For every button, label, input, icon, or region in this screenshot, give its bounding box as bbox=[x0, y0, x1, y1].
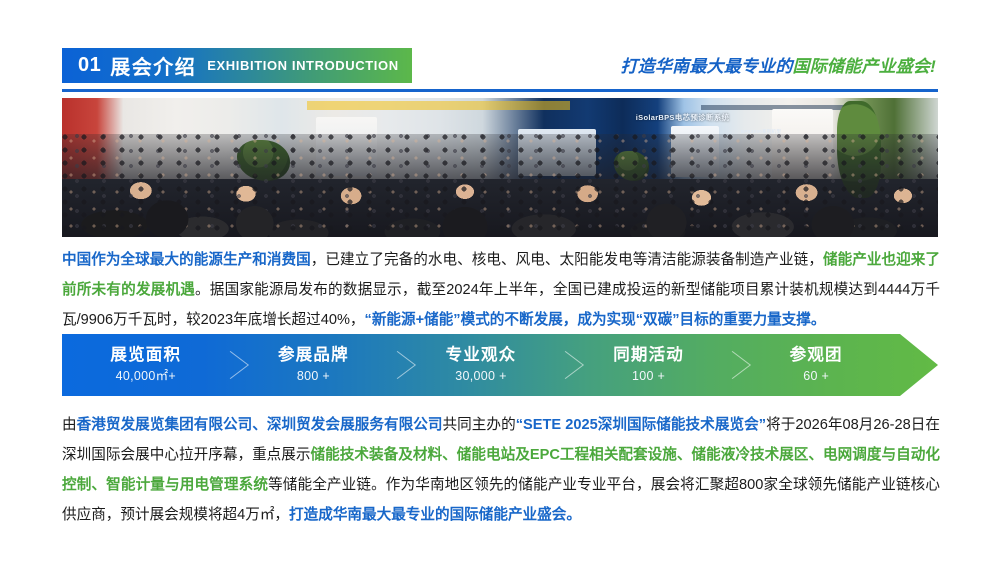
section-number: 01 bbox=[78, 54, 101, 77]
intro-bottom-run-2: 共同主办的 bbox=[443, 417, 516, 433]
intro-bottom-run-7: 打造成华南最大最专业的国际储能产业盛会。 bbox=[289, 507, 581, 523]
stat-label: 展览面积 bbox=[110, 345, 181, 366]
intro-bottom-run-3: “SETE 2025深圳国际储能技术展览会” bbox=[516, 417, 766, 433]
stat-cell-1: 展览面积40,000㎡+ bbox=[62, 334, 230, 396]
photo-background-layer: iSolarBPS电芯预诊断系统 BPS3000系列机型 bbox=[62, 98, 938, 237]
booth-yellow-strip bbox=[307, 101, 570, 111]
stats-arrow-banner: 展览面积40,000㎡+参展品牌800 +专业观众30,000 +同期活动100… bbox=[62, 334, 938, 396]
section-title-en: EXHIBITION INTRODUCTION bbox=[207, 58, 398, 73]
intro-paragraph-bottom: 由香港贸发展览集团有限公司、深圳贸发会展服务有限公司共同主办的“SETE 202… bbox=[62, 410, 940, 530]
intro-bottom-run-0: 由 bbox=[62, 417, 77, 433]
stat-label: 参展品牌 bbox=[278, 345, 349, 366]
exhibition-hall-photo: iSolarBPS电芯预诊断系统 BPS3000系列机型 bbox=[62, 98, 938, 237]
intro-top-run-4: “新能源+储能”模式的不断发展，成为实现“双碳”目标的重要力量支撑。 bbox=[365, 312, 826, 328]
tagline-green-part: 国际储能产业盛会! bbox=[793, 57, 936, 76]
intro-top-run-0: 中国作为全球最大的能源生产和消费国 bbox=[62, 252, 311, 268]
stat-cell-2: 参展品牌800 + bbox=[230, 334, 398, 396]
stat-value: 40,000㎡+ bbox=[116, 367, 176, 386]
stat-cell-5: 参观团60 + bbox=[732, 334, 900, 396]
header-divider-rule bbox=[62, 89, 938, 92]
tagline-blue-part: 打造华南最大最专业的 bbox=[621, 57, 793, 76]
intro-bottom-run-1: 香港贸发展览集团有限公司、深圳贸发会展服务有限公司 bbox=[77, 417, 443, 433]
stat-label: 专业观众 bbox=[446, 345, 517, 366]
stat-cell-4: 同期活动100 + bbox=[565, 334, 733, 396]
stat-label: 同期活动 bbox=[613, 345, 684, 366]
section-title-cn: 展会介绍 bbox=[110, 51, 196, 80]
stat-cell-3: 专业观众30,000 + bbox=[397, 334, 565, 396]
stat-value: 100 + bbox=[632, 367, 665, 386]
header-tagline: 打造华南最大最专业的国际储能产业盛会! bbox=[621, 52, 936, 77]
intro-paragraph-top: 中国作为全球最大的能源生产和消费国，已建立了完备的水电、核电、风电、太阳能发电等… bbox=[62, 245, 940, 335]
stat-value: 30,000 + bbox=[455, 367, 506, 386]
stat-value: 60 + bbox=[803, 367, 829, 386]
section-header-banner: 01 展会介绍 EXHIBITION INTRODUCTION bbox=[62, 48, 412, 83]
stat-label: 参观团 bbox=[790, 345, 843, 366]
stat-value: 800 + bbox=[297, 367, 330, 386]
crowd-foreground-layer bbox=[62, 181, 938, 237]
booth-banner-title: iSolarBPS电芯预诊断系统 bbox=[636, 112, 730, 123]
intro-top-run-1: ，已建立了完备的水电、核电、风电、太阳能发电等清洁能源装备制造产业链， bbox=[311, 252, 823, 268]
